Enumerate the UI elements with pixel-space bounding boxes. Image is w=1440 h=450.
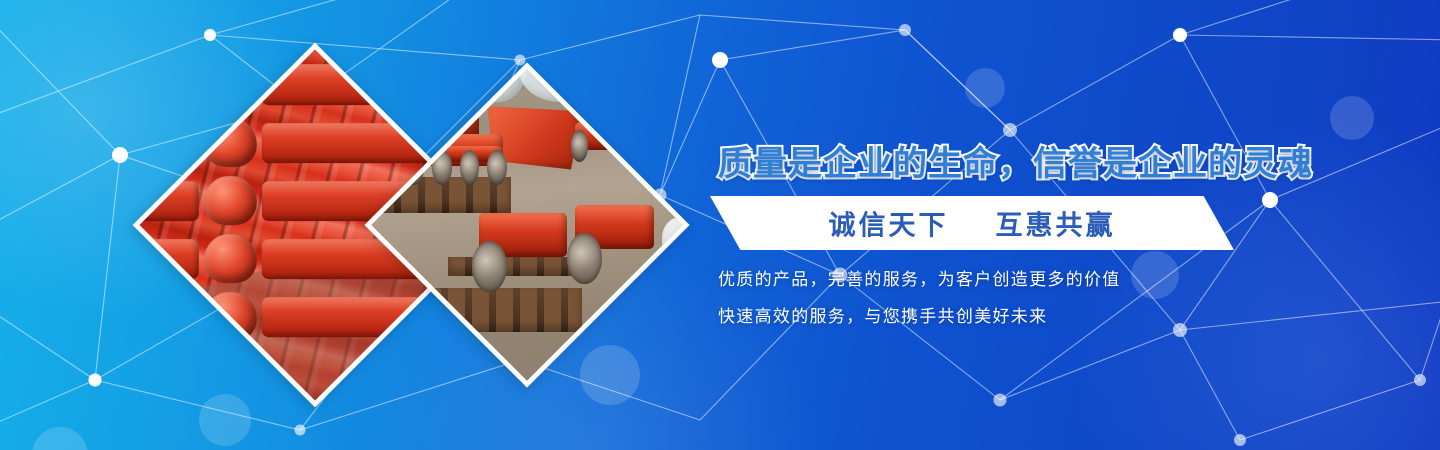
banner-headline: 质量是企业的生命，信誉是企业的灵魂: [718, 136, 1258, 185]
slogan-ribbon: 诚信天下 互惠共赢: [710, 196, 1234, 250]
slogan-right: 互惠共赢: [996, 211, 1116, 241]
slogan-ribbon-text: 诚信天下 互惠共赢: [710, 204, 1234, 243]
slogan-left: 诚信天下: [828, 211, 948, 241]
subtitle-line-1: 优质的产品，完善的服务，为客户创造更多的价值: [718, 265, 1121, 290]
subtitle-line-2: 快速高效的服务，与您携手共创美好未来: [718, 302, 1047, 327]
promo-banner: 质量是企业的生命，信誉是企业的灵魂 诚信天下 互惠共赢 优质的产品，完善的服务，…: [0, 0, 1440, 450]
